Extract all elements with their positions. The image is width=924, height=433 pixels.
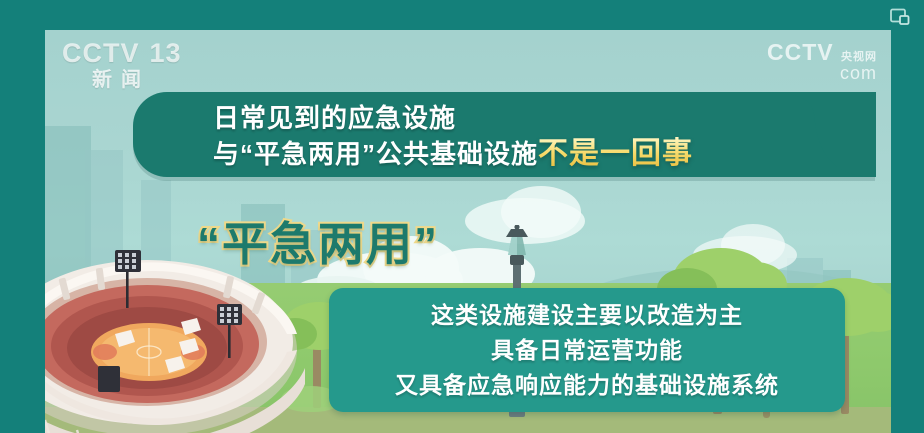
headline-accent-text: 不是一回事 xyxy=(538,137,693,170)
headline-text-block: 日常见到的应急设施 与“平急两用”公共基础设施不是一回事 xyxy=(213,101,693,172)
picture-in-picture-icon[interactable] xyxy=(890,8,910,26)
headline-line-2: 与“平急两用”公共基础设施不是一回事 xyxy=(213,136,693,172)
content-line-1: 这类设施建设主要以改造为主 xyxy=(431,298,743,333)
headline-line-1: 日常见到的应急设施 xyxy=(213,101,693,136)
headline-line-2-prefix: 与“平急两用”公共基础设施 xyxy=(213,139,538,169)
big-title: “平急两用” xyxy=(197,208,439,274)
content-box: 这类设施建设主要以改造为主 具备日常运营功能 又具备应急响应能力的基础设施系统 xyxy=(329,288,845,412)
content-line-2: 具备日常运营功能 xyxy=(491,333,683,368)
video-frame: CCTV13 新闻 CCTV 央视网 com 日常见到的应急设施 与“平急两用”… xyxy=(0,0,924,433)
headline-banner: 日常见到的应急设施 与“平急两用”公共基础设施不是一回事 xyxy=(133,92,875,177)
video-stage: CCTV13 新闻 CCTV 央视网 com 日常见到的应急设施 与“平急两用”… xyxy=(45,30,891,433)
content-line-3: 又具备应急响应能力的基础设施系统 xyxy=(395,368,779,403)
